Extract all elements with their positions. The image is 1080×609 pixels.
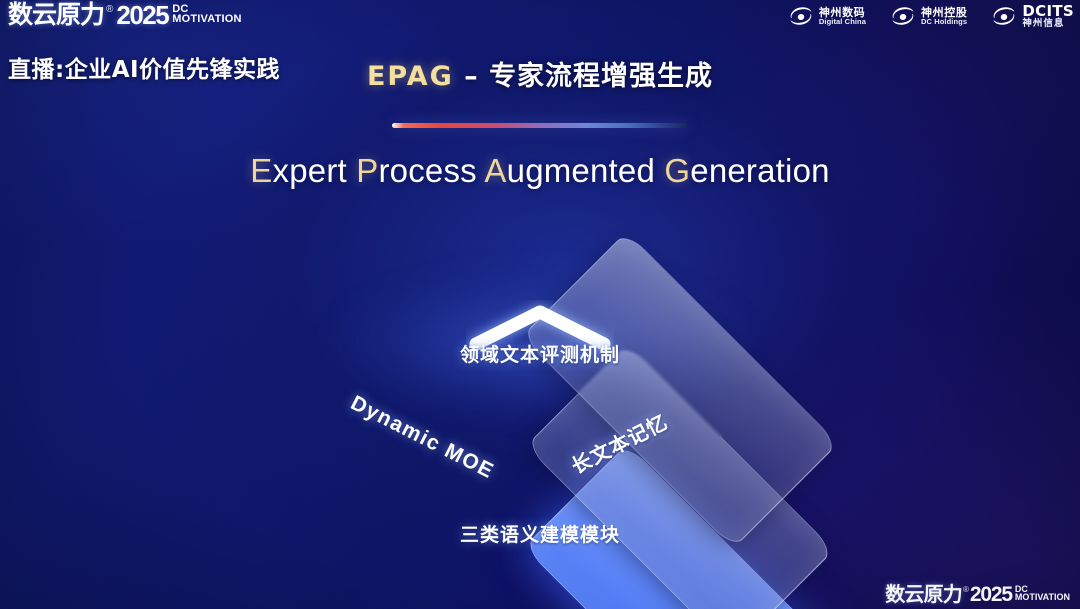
- swirl-logo-icon: [991, 5, 1017, 27]
- gradient-divider: [392, 123, 688, 128]
- watermark-registered-mark: ®: [963, 585, 969, 594]
- partner-logo-group: 神州数码 Digital China 神州控股 DC Holdings: [788, 4, 1074, 29]
- top-layer-label: 领域文本评测机制: [460, 340, 620, 367]
- top-bar: 数云原力 ® 2025 DC MOTIVATION 神州数码: [0, 0, 1080, 46]
- subtitle-rest-augmented: ugmented: [507, 152, 665, 189]
- watermark-dc: DC MOTIVATION: [1015, 585, 1070, 601]
- swirl-logo-icon: [890, 5, 916, 27]
- brand-registered-mark: ®: [106, 4, 113, 15]
- title-chinese: 专家流程增强生成: [489, 61, 713, 92]
- partner-logo-dcits: DCITS 神州信息: [991, 4, 1074, 29]
- subtitle-rest-expert: xpert: [273, 152, 357, 189]
- brand-dc-line2: MOTIVATION: [172, 14, 241, 24]
- subtitle-cap-g: G: [664, 152, 690, 189]
- watermark-logo: 数云原力 ® 2025 DC MOTIVATION: [885, 584, 1070, 605]
- subtitle-cap-a: A: [484, 152, 506, 189]
- top-layer-plate: [521, 231, 838, 548]
- headline-text: 直播:企业AI价值先锋实践: [8, 50, 280, 84]
- title-dash: –: [454, 61, 489, 92]
- subtitle-rest-generation: eneration: [690, 152, 829, 189]
- slide-canvas: 数云原力 ® 2025 DC MOTIVATION 神州数码: [0, 0, 1080, 609]
- subtitle-cap-e: E: [250, 152, 272, 189]
- watermark-chinese: 数云原力: [885, 584, 962, 604]
- middle-layer-left-label: Dynamic MOE: [347, 391, 498, 484]
- subtitle-rest-process: rocess: [378, 152, 484, 189]
- swirl-logo-icon: [788, 5, 814, 27]
- brand-logo-chinese: 数云原力: [8, 2, 104, 27]
- diagram-layer-top: [540, 240, 820, 520]
- watermark-year: 2025: [970, 584, 1012, 605]
- brand-logo-dc: DC MOTIVATION: [172, 4, 241, 24]
- partner-logo-dc-holdings: 神州控股 DC Holdings: [890, 5, 967, 27]
- layered-architecture-diagram: 领域文本评测机制 Dynamic MOE 长文本记忆 三类语义建模模块: [280, 240, 800, 580]
- bottom-layer-label: 三类语义建模模块: [460, 520, 620, 547]
- subtitle-cap-p: P: [356, 152, 378, 189]
- partner-text: 神州控股 DC Holdings: [921, 7, 967, 26]
- partner-text: DCITS 神州信息: [1022, 4, 1074, 29]
- brand-logo: 数云原力 ® 2025 DC MOTIVATION: [8, 2, 242, 28]
- title-acronym: EPAG: [367, 61, 454, 92]
- page-subtitle: Expert Process Augmented Generation: [0, 152, 1080, 190]
- partner-text: 神州数码 Digital China: [819, 7, 866, 26]
- partner-name-en: Digital China: [819, 18, 866, 26]
- partner-name-en: DC Holdings: [921, 18, 967, 26]
- brand-logo-year: 2025: [116, 2, 168, 28]
- partner-logo-digital-china: 神州数码 Digital China: [788, 5, 866, 27]
- partner-name-cn: DCITS: [1022, 4, 1074, 19]
- watermark-dc-line2: MOTIVATION: [1015, 593, 1070, 601]
- partner-name-en: 神州信息: [1022, 19, 1074, 29]
